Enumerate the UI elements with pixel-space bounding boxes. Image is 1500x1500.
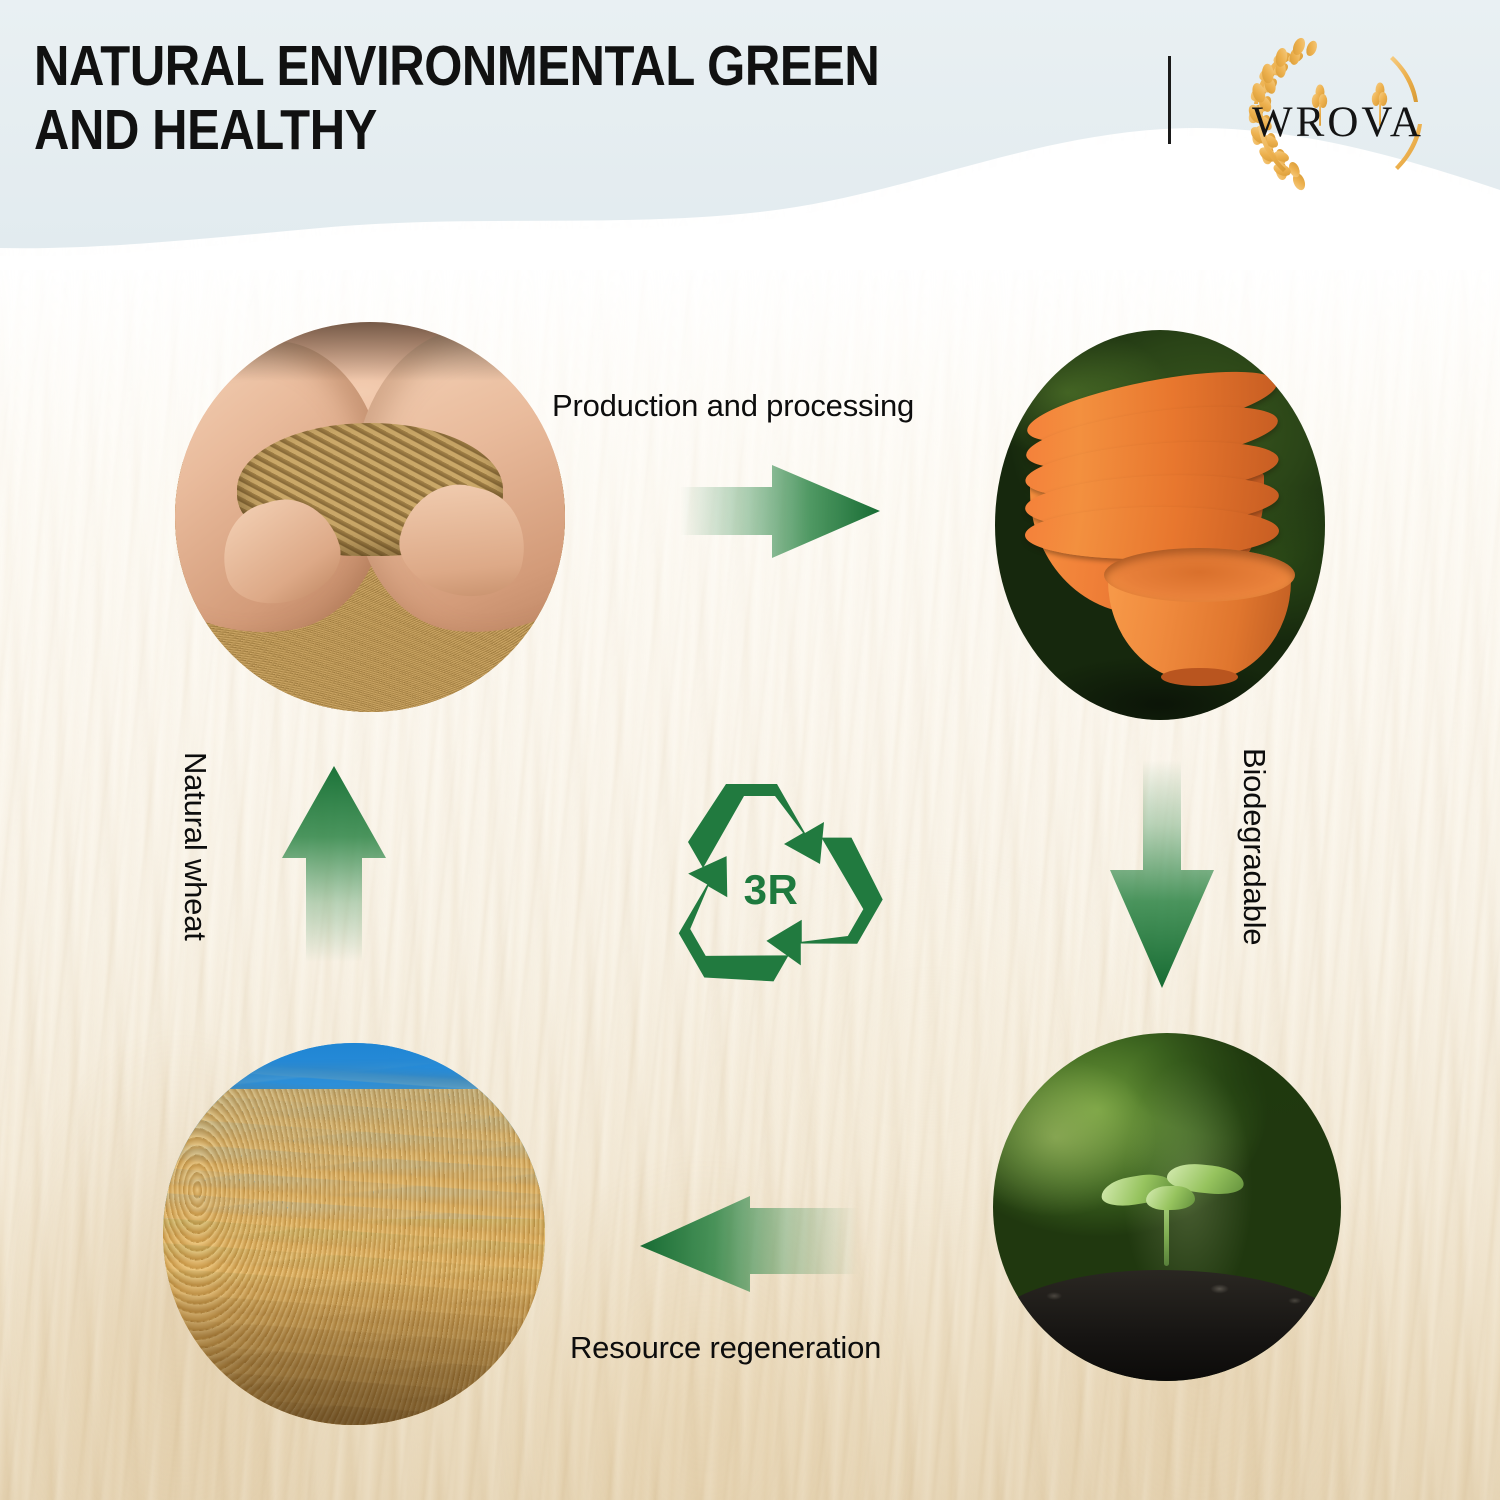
vertical-divider bbox=[1168, 56, 1171, 144]
photo-vignette bbox=[175, 322, 565, 381]
brand-wordmark: WROVA bbox=[1215, 98, 1461, 147]
label-resource-regeneration: Resource regeneration bbox=[570, 1330, 881, 1366]
infographic-page: NATURAL ENVIRONMENTAL GREEN AND HEALTHY bbox=[0, 0, 1500, 1500]
label-natural-wheat: Natural wheat bbox=[177, 752, 213, 941]
recycle-symbol-icon: 3R bbox=[642, 758, 900, 1016]
orange-wheat-straw-bowls-photo bbox=[995, 330, 1325, 720]
label-biodegradable: Biodegradable bbox=[1236, 748, 1272, 945]
brand-logo[interactable]: WROVA bbox=[1215, 18, 1461, 208]
arrow-down-icon bbox=[1102, 760, 1220, 992]
label-production-and-processing: Production and processing bbox=[552, 388, 914, 424]
arrow-right-icon bbox=[680, 443, 880, 563]
arrow-up-icon bbox=[282, 762, 388, 962]
front-bowl bbox=[1104, 548, 1295, 677]
page-title: NATURAL ENVIRONMENTAL GREEN AND HEALTHY bbox=[34, 34, 971, 163]
photo-vignette bbox=[163, 1272, 545, 1425]
arrow-left-icon bbox=[640, 1196, 858, 1314]
green-seedling-in-soil-photo bbox=[993, 1033, 1341, 1381]
golden-wheat-ears-photo bbox=[163, 1043, 545, 1425]
hands-holding-wheat-grain-photo bbox=[175, 322, 565, 712]
front-bowl-foot bbox=[1161, 668, 1238, 686]
